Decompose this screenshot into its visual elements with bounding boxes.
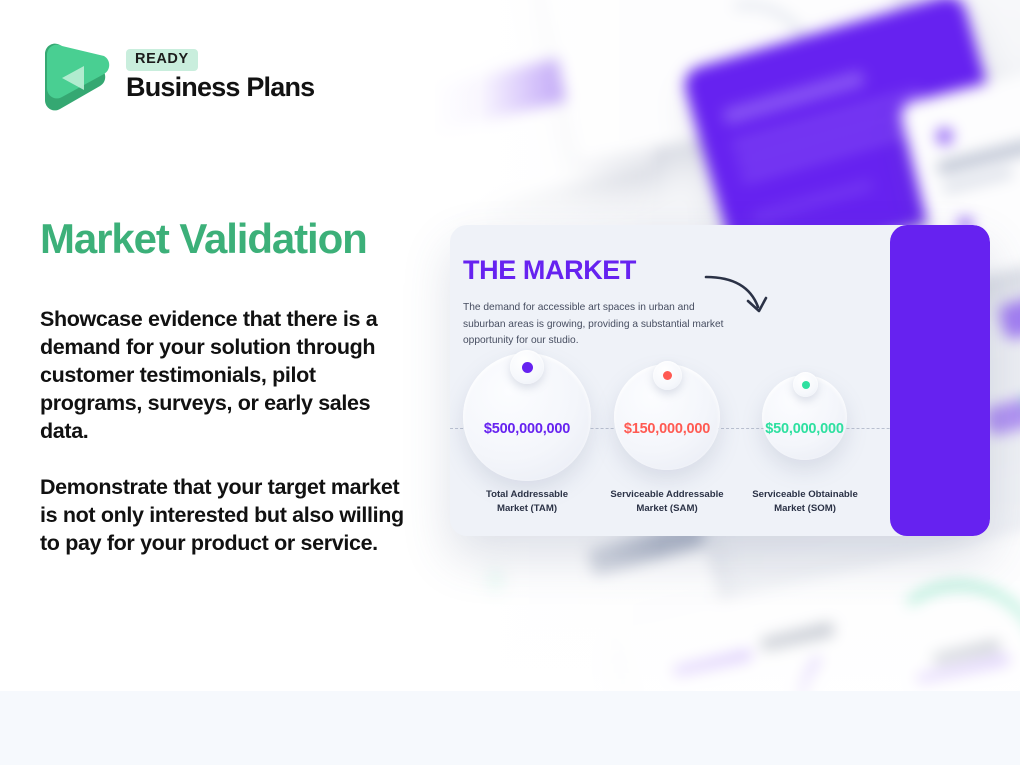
body-copy: Showcase evidence that there is a demand…: [40, 305, 420, 557]
market-value-som: $50,000,000: [762, 421, 847, 437]
market-label-line-1: Serviceable Addressable: [610, 489, 723, 500]
market-label-line-2: Market (SOM): [774, 503, 836, 514]
market-label-line-2: Market (TAM): [497, 503, 557, 514]
card-accent-panel: [890, 225, 990, 536]
market-value-tam: $500,000,000: [463, 421, 591, 437]
circle-knob: [793, 372, 818, 397]
market-card: THE MARKET The demand for accessible art…: [450, 225, 990, 536]
market-label-line-1: Serviceable Obtainable: [752, 489, 858, 500]
market-label-line-1: Total Addressable: [486, 489, 568, 500]
market-dot-icon: [802, 381, 810, 389]
market-dot-icon: [522, 362, 533, 373]
photo-violet-block: [430, 56, 576, 155]
photo-dot: [475, 565, 506, 596]
brand-text: READY Business Plans: [126, 49, 314, 103]
circle-knob: [653, 361, 682, 390]
page-title: Market Validation: [40, 216, 367, 261]
market-label-som: Serviceable Obtainable Market (SOM): [717, 488, 893, 515]
play-triangle-logo-icon: [40, 38, 112, 114]
circle-knob: [510, 350, 544, 384]
body-paragraph-2: Demonstrate that your target market is n…: [40, 473, 420, 557]
photo-text-bar: [751, 180, 874, 223]
ready-badge: READY: [126, 49, 198, 71]
photo-dot: [934, 126, 954, 146]
photo-text-bar: [672, 649, 754, 678]
market-dot-icon: [663, 371, 673, 381]
brand-name: Business Plans: [126, 73, 314, 103]
page-bottom-strip: [0, 691, 1020, 765]
market-value-sam: $150,000,000: [614, 421, 720, 437]
body-paragraph-1: Showcase evidence that there is a demand…: [40, 305, 420, 445]
slide-canvas: READY Business Plans Market Validation S…: [0, 0, 1020, 765]
brand-lockup: READY Business Plans: [40, 38, 314, 114]
market-label-line-2: Market (SAM): [636, 503, 697, 514]
